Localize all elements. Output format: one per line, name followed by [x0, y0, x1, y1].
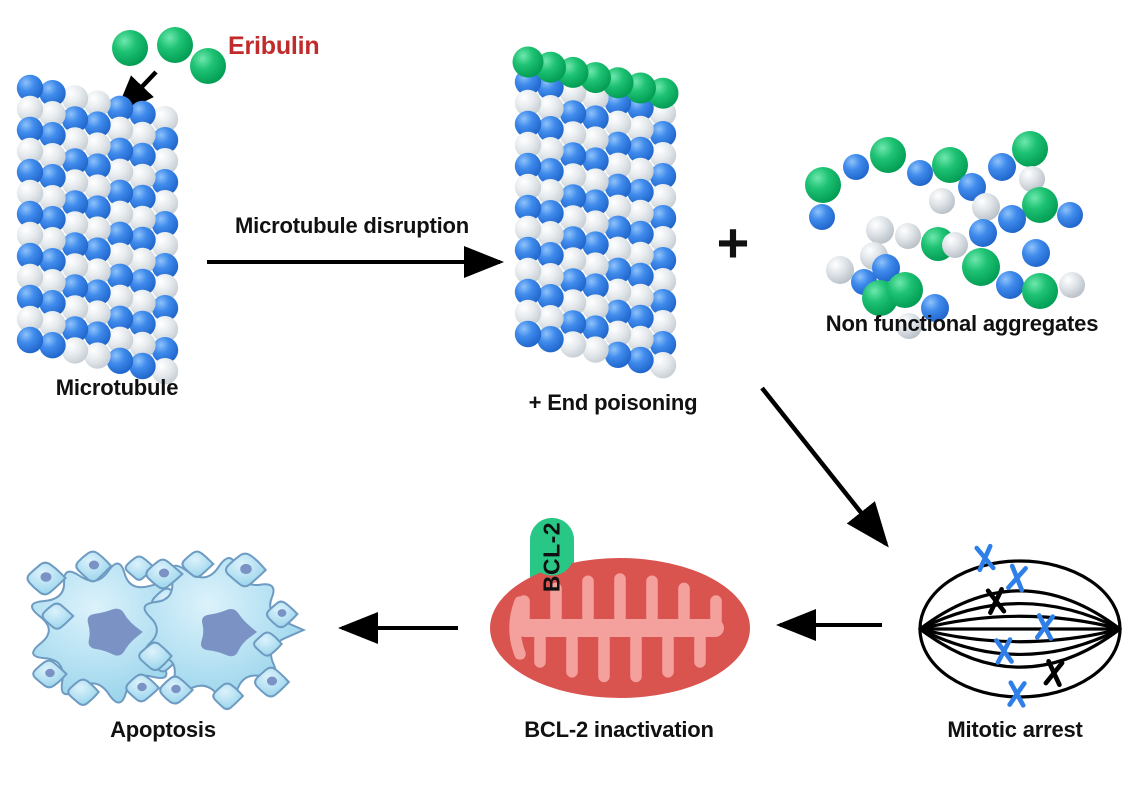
- nuclear-fragment: [41, 572, 52, 582]
- tubulin-alpha-subunit: [84, 342, 110, 368]
- protofilament: [537, 74, 563, 352]
- protofilament: [17, 75, 43, 353]
- aggregate-subunit-gray: [895, 223, 921, 249]
- mitochondrion: [490, 518, 750, 698]
- eribulin-molecule: [190, 48, 226, 84]
- tubulin-beta-subunit: [627, 347, 653, 373]
- nuclear-fragment: [171, 685, 181, 693]
- free-eribulin-molecules: [112, 27, 226, 84]
- mitotic-arrest-cell: [920, 546, 1120, 705]
- protofilament: [107, 96, 133, 374]
- nuclear-fragment: [137, 683, 147, 691]
- aggregate-subunit-blue: [809, 204, 835, 230]
- protofilament: [152, 106, 178, 384]
- tubulin-beta-subunit: [537, 326, 563, 352]
- aggregate-subunit-green: [1022, 273, 1058, 309]
- protofilament: [560, 79, 586, 357]
- tubulin-beta-subunit: [39, 332, 65, 358]
- diagram-canvas: Eribulin Microtubule disruption + Microt…: [0, 0, 1143, 800]
- aggregate-subunit-blue: [996, 271, 1024, 299]
- aggregate-cluster: [805, 137, 933, 230]
- tubulin-beta-subunit: [605, 342, 631, 368]
- nuclear-fragment: [89, 561, 99, 570]
- protofilament: [39, 80, 65, 358]
- mitotic-arrest-label: Mitotic arrest: [947, 717, 1082, 743]
- aggregate-subunit-green: [870, 137, 906, 173]
- microtubule-disruption-label: Microtubule disruption: [235, 213, 469, 239]
- aggregate-subunit-gray: [972, 193, 1000, 221]
- nuclear-fragment: [240, 564, 252, 574]
- apoptosis-label: Apoptosis: [110, 717, 216, 743]
- arrow-to-mitotic-arrest: [762, 388, 886, 544]
- aggregate-subunit-green: [962, 248, 1000, 286]
- protofilament: [62, 85, 88, 363]
- aggregate-subunit-blue: [1057, 202, 1083, 228]
- aggregate-subunit-gray: [866, 216, 894, 244]
- tubulin-alpha-subunit: [62, 337, 88, 363]
- crista: [515, 602, 520, 654]
- aggregate-cluster: [996, 239, 1085, 309]
- aggregate-subunit-gray: [826, 256, 854, 284]
- eribulin-label: Eribulin: [228, 32, 319, 61]
- aggregate-cluster: [988, 131, 1048, 192]
- microtubule-end-poisoned: [513, 47, 679, 379]
- apoptotic-cells: [28, 552, 304, 710]
- protofilament: [650, 100, 676, 378]
- nuclear-fragment: [45, 669, 55, 677]
- microtubule-label: Microtubule: [56, 375, 178, 401]
- tubulin-alpha-subunit: [650, 352, 676, 378]
- aggregate-cluster: [942, 219, 1000, 286]
- non-functional-aggregates: [805, 131, 1085, 339]
- bcl2-inactivation-label: BCL-2 inactivation: [524, 717, 714, 743]
- tubulin-beta-subunit: [515, 321, 541, 347]
- aggregate-subunit-blue: [969, 219, 997, 247]
- protofilament: [582, 84, 608, 362]
- eribulin-molecule: [112, 30, 148, 66]
- aggregate-subunit-gray: [1059, 272, 1085, 298]
- protofilament: [627, 95, 653, 373]
- eribulin-molecule: [157, 27, 193, 63]
- aggregate-subunit-blue: [998, 205, 1026, 233]
- plus-symbol: +: [717, 215, 750, 271]
- aggregate-subunit-blue: [843, 154, 869, 180]
- protofilament: [515, 69, 541, 347]
- protofilament: [84, 90, 110, 368]
- eribulin-molecule-bound: [513, 47, 544, 78]
- aggregate-subunit-gray: [929, 188, 955, 214]
- nuclear-fragment: [267, 677, 277, 686]
- aggregate-subunit-blue: [907, 160, 933, 186]
- aggregate-subunit-green: [887, 272, 923, 308]
- aggregate-subunit-blue: [1022, 239, 1050, 267]
- non-functional-aggregates-label: Non functional aggregates: [826, 311, 1098, 337]
- nuclear-fragment: [278, 609, 287, 617]
- aggregate-subunit-blue: [988, 153, 1016, 181]
- nuclear-fragment: [159, 569, 169, 578]
- aggregate-subunit-green: [1012, 131, 1048, 167]
- bcl2-tag-label: BCL-2: [539, 522, 566, 592]
- protofilament: [129, 101, 155, 379]
- apoptotic-cell: [139, 552, 303, 710]
- tubulin-alpha-subunit: [582, 336, 608, 362]
- tubulin-beta-subunit: [17, 327, 43, 353]
- end-poisoning-label: + End poisoning: [529, 390, 698, 416]
- aggregate-subunit-gray: [942, 232, 968, 258]
- tubulin-alpha-subunit: [560, 331, 586, 357]
- microtubule-left: [17, 75, 178, 385]
- aggregate-subunit-green: [1022, 187, 1058, 223]
- protofilament: [605, 90, 631, 368]
- aggregate-subunit-green: [805, 167, 841, 203]
- tubulin-beta-subunit: [107, 348, 133, 374]
